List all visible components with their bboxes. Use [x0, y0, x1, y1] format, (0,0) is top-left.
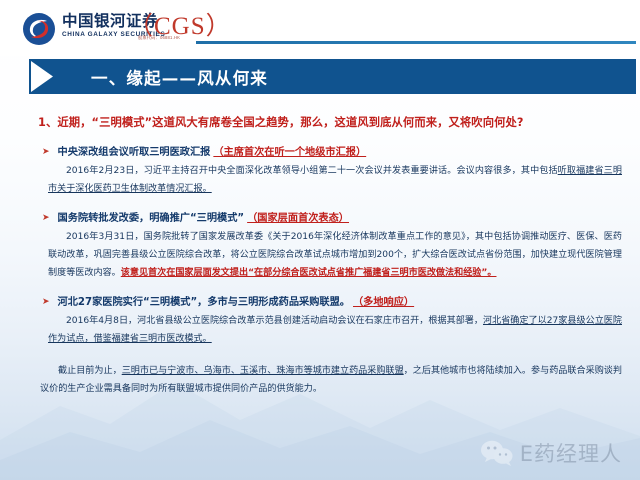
section-title: 一、缘起——风从何来	[91, 65, 268, 89]
watermark: E药经理人	[480, 438, 622, 468]
brand-ticker-note: 股票代码：06881.HK	[138, 35, 232, 40]
content-block: ➤中央深改组会议听取三明医政汇报（主席首次在听一个地级市汇报）2016年2月23…	[30, 145, 626, 198]
slide-content: 1、近期，“三明模式”这道风大有席卷全国之趋势，那么，这道风到底从何而来，又将吹…	[30, 104, 626, 398]
content-blocks: ➤中央深改组会议听取三明医政汇报（主席首次在听一个地级市汇报）2016年2月23…	[30, 145, 626, 348]
section-title-bar: 一、缘起——风从何来	[29, 59, 636, 94]
text-run: 截止目前为止，	[58, 366, 122, 376]
body-paragraph: 2016年2月23日，习近平主持召开中央全面深化改革领导小组第二十一次会议并发表…	[48, 162, 622, 198]
bullet-heading: ➤中央深改组会议听取三明医政汇报（主席首次在听一个地级市汇报）	[42, 145, 626, 160]
bullet-title: 中央深改组会议听取三明医政汇报	[58, 145, 211, 160]
slide-header: 中国银河证券 CHINA GALAXY SECURITIES （CGS） 股票代…	[0, 0, 640, 56]
brand-abbreviation: （CGS） 股票代码：06881.HK	[128, 14, 232, 40]
closing-paragraph: 截止目前为止，三明市已与宁波市、乌海市、玉溪市、珠海市等城市建立药品采购联盟，之…	[40, 362, 622, 398]
arrow-bullet-icon: ➤	[42, 144, 50, 158]
watermark-text: E药经理人	[520, 438, 622, 468]
text-run: 三明市已与宁波市、乌海市、玉溪市、珠海市等城市建立药品采购联盟	[122, 366, 404, 376]
bullet-title: 国务院转批发改委，明确推广“三明模式”	[58, 211, 245, 226]
galaxy-swirl-logo-icon	[22, 12, 56, 46]
chevron-right-icon	[29, 59, 74, 94]
text-run: 该意见首次在国家层面发文提出“在部分综合医改试点省推广福建省三明市医改做法和经验…	[121, 268, 497, 278]
text-run: 2016年4月8日，河北省县级公立医院综合改革示范县创建活动启动会议在石家庄市召…	[66, 316, 483, 326]
wechat-logo-icon	[480, 438, 514, 468]
presentation-slide: 中国银河证券 CHINA GALAXY SECURITIES （CGS） 股票代…	[0, 0, 640, 480]
arrow-bullet-icon: ➤	[42, 294, 50, 308]
bullet-heading: ➤国务院转批发改委，明确推广“三明模式”（国家层面首次表态）	[42, 211, 626, 226]
bullet-note: （国家层面首次表态）	[247, 211, 349, 226]
text-run: 2016年2月23日，习近平主持召开中央全面深化改革领导小组第二十一次会议并发表…	[66, 166, 558, 176]
bullet-heading: ➤河北27家医院实行“三明模式”，多市与三明形成药品采购联盟。（多地响应）	[42, 295, 626, 310]
content-block: ➤国务院转批发改委，明确推广“三明模式”（国家层面首次表态）2016年3月31日…	[30, 211, 626, 282]
bullet-title: 河北27家医院实行“三明模式”，多市与三明形成药品采购联盟。	[58, 295, 350, 310]
bullet-note: （多地响应）	[353, 295, 414, 310]
header-divider-line	[196, 41, 636, 44]
body-paragraph: 2016年3月31日，国务院批转了国家发展改革委《关于2016年深化经济体制改革…	[48, 228, 622, 282]
arrow-bullet-icon: ➤	[42, 210, 50, 224]
page-headline: 1、近期，“三明模式”这道风大有席卷全国之趋势，那么，这道风到底从何而来，又将吹…	[38, 114, 626, 132]
body-paragraph: 2016年4月8日，河北省县级公立医院综合改革示范县创建活动启动会议在石家庄市召…	[48, 312, 622, 348]
bullet-note: （主席首次在听一个地级市汇报）	[213, 145, 366, 160]
content-block: ➤河北27家医院实行“三明模式”，多市与三明形成药品采购联盟。（多地响应）201…	[30, 295, 626, 348]
